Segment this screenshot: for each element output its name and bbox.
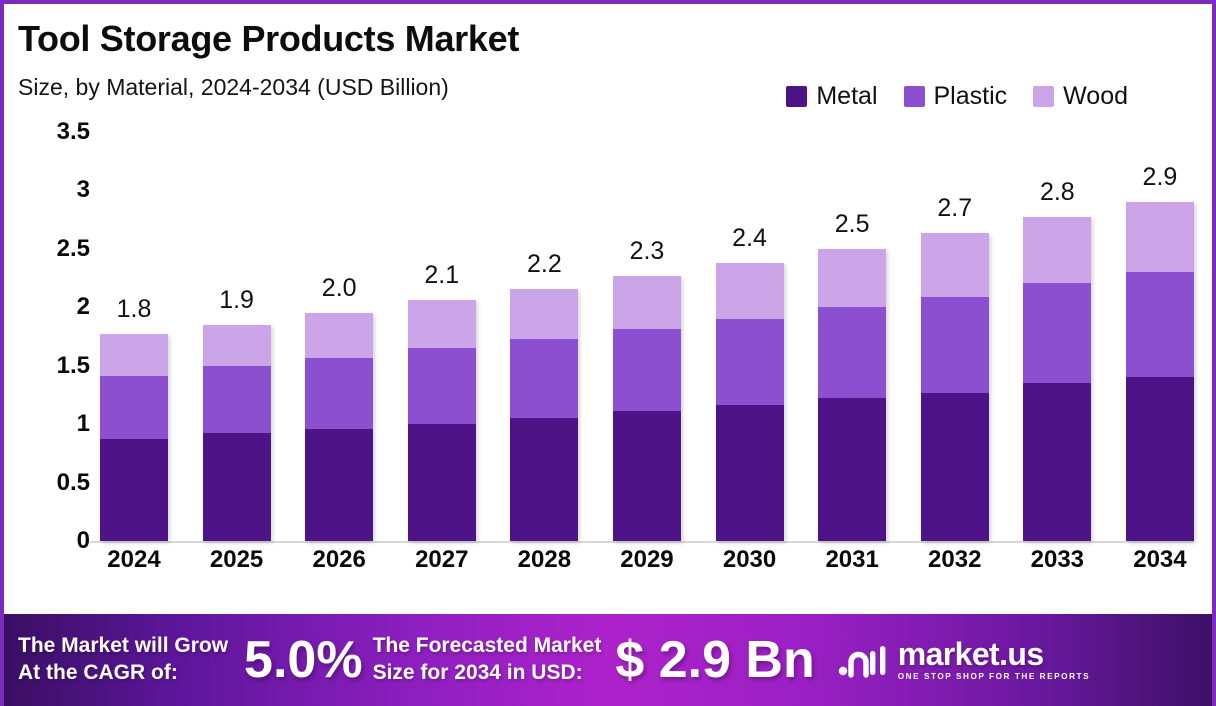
chart-plot-area: 00.511.522.533.5 1.81.92.02.12.22.32.42.… [4, 132, 1216, 602]
bar-stack[interactable] [408, 300, 476, 541]
chart-header: Tool Storage Products Market Size, by Ma… [4, 4, 1212, 132]
bar-segment-wood[interactable] [305, 313, 373, 357]
bar-column[interactable]: 1.9 [203, 132, 271, 541]
x-axis-label: 2030 [716, 546, 784, 594]
bar-segment-metal[interactable] [1126, 377, 1194, 541]
bar-value-label: 2.0 [322, 274, 357, 303]
legend-swatch-wood [1033, 86, 1054, 107]
cagr-label-line2: At the CAGR of: [18, 660, 228, 687]
bar-segment-wood[interactable] [203, 325, 271, 366]
bar-value-label: 2.4 [732, 224, 767, 253]
bar-stack[interactable] [1023, 217, 1091, 541]
bar-segment-wood[interactable] [613, 276, 681, 330]
cagr-block: The Market will Grow At the CAGR of: 5.0… [18, 630, 363, 690]
chart-legend: MetalPlasticWood [786, 82, 1128, 111]
bar-column[interactable]: 1.8 [100, 132, 168, 541]
bar-column[interactable]: 2.5 [818, 132, 886, 541]
x-axis-line [90, 541, 1194, 543]
bar-segment-metal[interactable] [921, 393, 989, 541]
legend-swatch-metal [786, 86, 807, 107]
bar-value-label: 1.8 [117, 295, 152, 324]
bar-column[interactable]: 2.2 [510, 132, 578, 541]
bar-column[interactable]: 2.3 [613, 132, 681, 541]
bar-segment-metal[interactable] [1023, 383, 1091, 541]
legend-swatch-plastic [904, 86, 925, 107]
x-axis-label: 2031 [818, 546, 886, 594]
logo-name: market.us [898, 638, 1090, 670]
bar-segment-plastic[interactable] [100, 376, 168, 439]
bar-segment-wood[interactable] [1023, 217, 1091, 282]
legend-item-wood[interactable]: Wood [1033, 82, 1128, 111]
x-axis-label: 2027 [408, 546, 476, 594]
x-axis-label: 2028 [510, 546, 578, 594]
y-axis: 00.511.522.533.5 [4, 132, 100, 542]
y-axis-tick: 1 [77, 410, 90, 438]
forecast-size-label: The Forecasted Market Size for 2034 in U… [373, 633, 602, 687]
bar-stack[interactable] [100, 334, 168, 541]
x-axis-label: 2033 [1023, 546, 1091, 594]
bar-segment-plastic[interactable] [1023, 283, 1091, 383]
x-axis-label: 2026 [305, 546, 373, 594]
bar-stack[interactable] [510, 289, 578, 541]
cagr-value: 5.0% [244, 630, 363, 690]
bar-segment-metal[interactable] [100, 439, 168, 541]
bar-column[interactable]: 2.4 [716, 132, 784, 541]
size-label-line2: Size for 2034 in USD: [373, 660, 602, 687]
y-axis-tick: 2.5 [57, 235, 90, 263]
bar-segment-wood[interactable] [408, 300, 476, 348]
x-axis-label: 2032 [921, 546, 989, 594]
y-axis-tick: 0 [77, 527, 90, 555]
bar-value-label: 2.3 [630, 237, 665, 266]
legend-label: Plastic [934, 82, 1008, 111]
bar-segment-plastic[interactable] [408, 348, 476, 424]
y-axis-tick: 0.5 [57, 469, 90, 497]
x-axis-label: 2034 [1126, 546, 1194, 594]
bar-group: 1.81.92.02.12.22.32.42.52.72.82.9 [100, 132, 1194, 541]
bar-stack[interactable] [305, 313, 373, 541]
y-axis-tick: 3.5 [57, 118, 90, 146]
bar-segment-wood[interactable] [921, 233, 989, 297]
bar-value-label: 2.5 [835, 210, 870, 239]
bar-segment-metal[interactable] [716, 405, 784, 541]
bar-value-label: 2.9 [1143, 163, 1178, 192]
bar-segment-wood[interactable] [818, 249, 886, 307]
bar-segment-plastic[interactable] [613, 329, 681, 411]
bar-value-label: 2.1 [424, 261, 459, 290]
bar-column[interactable]: 2.0 [305, 132, 373, 541]
legend-item-metal[interactable]: Metal [786, 82, 877, 111]
x-axis-label: 2029 [613, 546, 681, 594]
forecast-size-block: The Forecasted Market Size for 2034 in U… [373, 630, 815, 690]
bar-segment-metal[interactable] [510, 418, 578, 541]
bar-stack[interactable] [613, 276, 681, 541]
bar-stack[interactable] [818, 249, 886, 541]
x-axis-labels: 2024202520262027202820292030203120322033… [100, 546, 1194, 594]
y-axis-tick: 3 [77, 176, 90, 204]
bar-value-label: 1.9 [219, 286, 254, 315]
cagr-label-line1: The Market will Grow [18, 633, 228, 660]
market-us-logo-icon [837, 640, 889, 680]
bar-segment-metal[interactable] [613, 411, 681, 541]
bar-segment-metal[interactable] [408, 424, 476, 541]
logo-text: market.us ONE STOP SHOP FOR THE REPORTS [898, 638, 1090, 681]
bar-value-label: 2.2 [527, 250, 562, 279]
bar-stack[interactable] [203, 325, 271, 541]
bar-segment-metal[interactable] [305, 429, 373, 541]
x-axis-label: 2025 [203, 546, 271, 594]
bar-segment-wood[interactable] [100, 334, 168, 376]
legend-item-plastic[interactable]: Plastic [904, 82, 1008, 111]
market-us-logo[interactable]: market.us ONE STOP SHOP FOR THE REPORTS [837, 638, 1090, 681]
bar-segment-plastic[interactable] [818, 307, 886, 398]
forecast-size-value: $ 2.9 Bn [615, 630, 814, 690]
bar-segment-wood[interactable] [510, 289, 578, 339]
legend-label: Metal [816, 82, 877, 111]
bar-segment-plastic[interactable] [203, 366, 271, 434]
bar-segment-wood[interactable] [1126, 202, 1194, 272]
bar-value-label: 2.7 [937, 194, 972, 223]
bar-column[interactable]: 2.9 [1126, 132, 1194, 541]
bar-segment-plastic[interactable] [1126, 272, 1194, 377]
y-axis-tick: 2 [77, 293, 90, 321]
bar-column[interactable]: 2.1 [408, 132, 476, 541]
bar-segment-plastic[interactable] [716, 319, 784, 405]
footer-banner: The Market will Grow At the CAGR of: 5.0… [4, 614, 1216, 706]
bar-stack[interactable] [921, 233, 989, 542]
page-title: Tool Storage Products Market [18, 18, 519, 60]
bar-value-label: 2.8 [1040, 178, 1075, 207]
infographic-root: Tool Storage Products Market Size, by Ma… [0, 0, 1216, 706]
size-label-line1: The Forecasted Market [373, 633, 602, 660]
y-axis-tick: 1.5 [57, 352, 90, 380]
bar-column[interactable]: 2.7 [921, 132, 989, 541]
legend-label: Wood [1063, 82, 1128, 111]
bar-segment-metal[interactable] [203, 433, 271, 541]
bar-segment-plastic[interactable] [305, 358, 373, 429]
logo-tagline: ONE STOP SHOP FOR THE REPORTS [898, 673, 1090, 681]
bar-column[interactable]: 2.8 [1023, 132, 1091, 541]
bar-segment-wood[interactable] [716, 263, 784, 319]
bar-segment-plastic[interactable] [921, 297, 989, 393]
bar-stack[interactable] [1126, 202, 1194, 541]
cagr-label: The Market will Grow At the CAGR of: [18, 633, 228, 687]
bar-stack[interactable] [716, 263, 784, 541]
bar-segment-plastic[interactable] [510, 339, 578, 418]
x-axis-label: 2024 [100, 546, 168, 594]
chart-subtitle: Size, by Material, 2024-2034 (USD Billio… [18, 74, 449, 101]
bar-segment-metal[interactable] [818, 398, 886, 541]
